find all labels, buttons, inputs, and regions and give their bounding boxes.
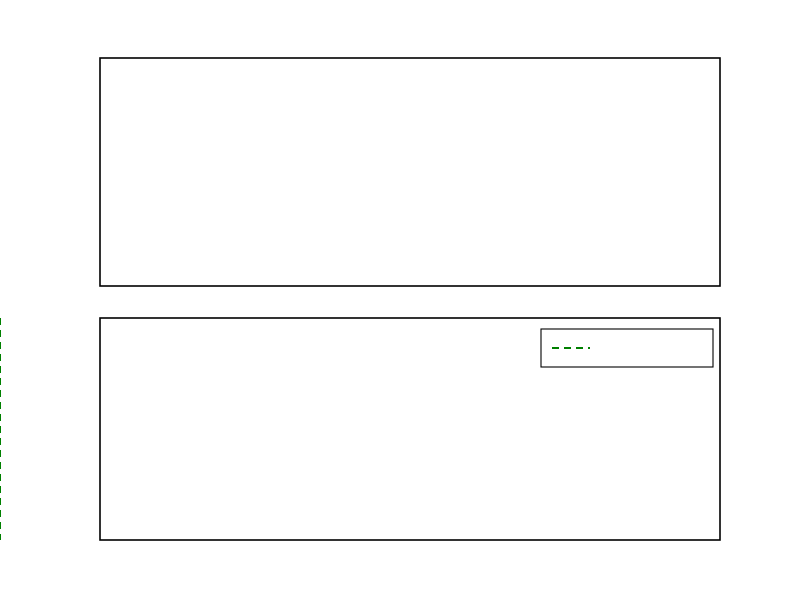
top-axes-plot-area [100, 58, 720, 286]
top-axes-differential-histogram [100, 58, 720, 286]
bottom-axes-cumulative-histogram [0, 318, 720, 540]
top-axes-background [100, 58, 720, 286]
matplotlib-figure [0, 0, 800, 600]
figure-canvas [0, 0, 800, 600]
legend[interactable] [541, 329, 713, 367]
